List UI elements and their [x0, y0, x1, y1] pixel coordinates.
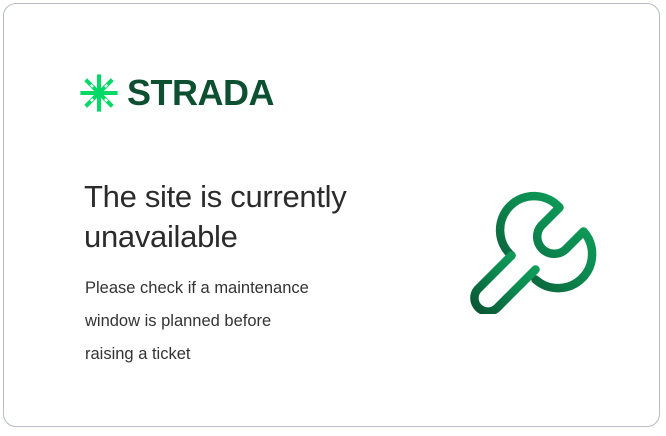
brand-wordmark: STRADA	[127, 75, 274, 111]
description-line: raising a ticket	[85, 338, 405, 371]
wrench-icon	[459, 159, 614, 314]
page-title: The site is currently unavailable	[84, 177, 424, 258]
status-card: STRADA The site is currently unavailable…	[3, 3, 660, 427]
description-line: Please check if a maintenance	[85, 272, 405, 305]
status-description: Please check if a maintenance window is …	[85, 272, 405, 371]
description-line: window is planned before	[85, 305, 405, 338]
strada-asterisk-icon	[80, 74, 118, 112]
brand-logo: STRADA	[80, 74, 274, 112]
